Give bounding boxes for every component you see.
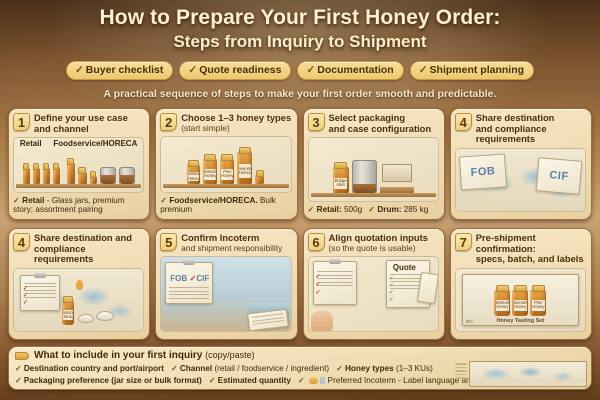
jar-label: Blossom Honey — [496, 300, 509, 311]
steel-drum-icon — [352, 160, 377, 194]
step-card-6[interactable]: 6 Align quotation inputs (so the quote i… — [303, 228, 445, 340]
card-header: 1 Define your use case and channel — [13, 113, 144, 134]
checklist-item[interactable]: ✓Channel (retail / foodservice / ingredi… — [171, 363, 329, 373]
inquiry-checklist-panel: What to include in your first inquiry (c… — [8, 346, 592, 390]
step-card-4-top[interactable]: 4 Share destination and compliance requi… — [450, 108, 592, 220]
card-footer: ✓ Retail - Glass jars, premium story; as… — [13, 196, 144, 215]
check-icon: ✓ — [389, 275, 394, 282]
card-title-second-line: specs, batch, and labels — [476, 254, 586, 265]
check-icon: ✓ — [160, 196, 167, 205]
card-subtitle: (start simple) — [181, 124, 291, 134]
check-icon: ✓ — [389, 289, 394, 296]
honey-jar-icon: Blossom Honey — [494, 290, 510, 316]
card-header: 6 Align quotation inputs (so the quote i… — [308, 233, 439, 253]
card-header: 4 Share destination and compliance requi… — [13, 233, 144, 265]
check-icon: ✓ — [316, 273, 321, 280]
jar-label: Blossom Honey — [63, 310, 73, 320]
document-icon — [320, 377, 325, 384]
check-icon: ✓ — [15, 364, 22, 373]
shelf-line — [163, 184, 288, 188]
illustration-destination-map: ✓ ✓ ✓ Blossom Honey — [13, 268, 144, 332]
card-header: 5 Confirm Incoterm and shipment responsi… — [160, 233, 291, 253]
check-icon: ✓ — [209, 376, 216, 385]
honey-jar-icon: Lavender Honey — [512, 290, 528, 316]
document-label: CIF — [549, 169, 569, 183]
footer-strong: Foodservice/HORECA. — [169, 196, 257, 205]
tag-icon — [15, 352, 29, 360]
panel-title-note: (copy/paste) — [205, 350, 255, 360]
card-subtitle: and shipment responsibility — [181, 244, 291, 254]
shelf-line — [16, 184, 141, 188]
step-card-7[interactable]: 7 Pre-shipment confirmation: specs, batc… — [450, 228, 592, 340]
document-cif: CIF — [536, 157, 583, 195]
pill-label: Shipment planning — [430, 64, 525, 76]
honey-jar-icon: Blossom Honey — [203, 159, 217, 185]
check-icon: ✓ — [23, 285, 28, 292]
header-pill-list: ✓Buyer checklist ✓Quote readiness ✓Docum… — [0, 61, 600, 80]
check-icon: ✓ — [316, 281, 321, 288]
jar-group — [14, 163, 143, 185]
checklist-label: Packaging preference (jar size or bulk f… — [24, 376, 202, 385]
illustration-retail-vs-horeca: Retail Foodservice/HORECA — [13, 137, 144, 193]
footer-strong: Retail: — [317, 205, 342, 214]
step-number-badge: 4 — [13, 233, 30, 251]
clip-icon — [34, 273, 46, 278]
pill-documentation[interactable]: ✓Documentation — [297, 61, 403, 80]
step-number-badge: 3 — [308, 113, 325, 131]
jar-group: Blossom Honey Lavender Honey Pine Honey — [463, 290, 578, 316]
check-icon: ✓ — [171, 364, 178, 373]
pill-label: Buyer checklist — [86, 64, 164, 76]
jar-label: Bringe Aber — [334, 178, 347, 189]
illustration-incoterm-documents: FOB CIF — [455, 148, 586, 212]
pallet-icon — [380, 164, 414, 194]
document-label: FOB — [470, 165, 496, 179]
gift-box-graphic: Blossom Honey Lavender Honey Pine Honey … — [462, 274, 579, 326]
checklist-label: Preferred Incoterm — [328, 376, 396, 385]
card-header: 7 Pre-shipment confirmation: specs, batc… — [455, 233, 586, 265]
pill-label: Documentation — [317, 64, 393, 76]
pill-buyer-checklist[interactable]: ✓Buyer checklist — [66, 61, 173, 80]
document-stack: FOB CIF — [460, 153, 581, 207]
jar-group: Blossom Honey Blossom Honey Pine Honey L… — [161, 152, 290, 185]
input-checklist-document: ✓ ✓ ✓ — [313, 261, 357, 305]
card-subtitle: (so the quote is usable) — [329, 244, 439, 254]
honey-jar-icon — [53, 168, 60, 185]
footer-text: 500g — [344, 205, 362, 214]
card-header: 4 Share destination and compliance requi… — [455, 113, 586, 145]
honey-jar-icon — [23, 168, 30, 185]
step-number-badge: 6 — [308, 233, 325, 251]
panel-title: What to include in your first inquiry — [34, 350, 202, 361]
jar-label: Blossom Honey — [188, 172, 199, 180]
check-icon: ✓ — [298, 376, 305, 385]
clip-icon — [329, 259, 341, 264]
hand-icon — [311, 311, 333, 331]
quote-sheet-title: Quote — [393, 263, 416, 272]
steps-grid-row1: 1 Define your use case and channel Retai… — [0, 108, 600, 220]
honey-jar-icon: Pine Honey — [530, 290, 546, 316]
pill-label: Quote readiness — [199, 64, 281, 76]
pill-quote-readiness[interactable]: ✓Quote readiness — [179, 61, 291, 80]
honey-jar-icon: Blossom Honey — [62, 301, 74, 325]
illustration-packaging: Bringe Aber — [308, 137, 439, 202]
supporting-document — [417, 272, 439, 304]
honey-jar-icon — [43, 168, 50, 185]
step-card-5[interactable]: 5 Confirm Incoterm and shipment responsi… — [155, 228, 297, 340]
checklist-label: Destination country and port/airport — [24, 364, 164, 373]
card-header: 3 Select packaging and case configuratio… — [308, 113, 439, 134]
checklist-item[interactable]: ✓Packaging preference (jar size or bulk … — [15, 375, 202, 385]
step-card-2[interactable]: 2 Choose 1–3 honey types (start simple) … — [155, 108, 297, 220]
shelf-line — [311, 193, 436, 197]
illustration-honey-types: Blossom Honey Blossom Honey Pine Honey L… — [160, 136, 291, 192]
honey-bowl-icon — [96, 311, 114, 321]
check-icon: ✓ — [389, 282, 394, 289]
footer-strong: Retail — [22, 196, 44, 205]
bulk-container-icon — [119, 167, 135, 185]
box-caption: Honey Tasting Set — [463, 318, 578, 324]
clip-icon — [183, 260, 195, 265]
pill-shipment-planning[interactable]: ✓Shipment planning — [410, 61, 534, 80]
honey-bowl-icon — [78, 314, 94, 323]
page-title-line1: How to Prepare Your First Honey Order: — [0, 6, 600, 29]
jar-label: Blossom Honey — [204, 169, 216, 180]
honey-pot-icon — [309, 377, 318, 384]
page-subtitle: A practical sequence of steps to make yo… — [0, 88, 600, 100]
check-icon: ✓ — [15, 376, 22, 385]
check-icon: ✓ — [316, 289, 321, 296]
document-label-cif: CIF — [196, 274, 209, 283]
honey-jar-icon — [78, 172, 87, 185]
illustration-label-foodservice: Foodservice/HORECA — [53, 139, 137, 148]
card-title-second-line: and channel — [34, 124, 144, 135]
card-title: Pre-shipment confirmation: — [476, 233, 586, 254]
card-footer: ✓ Foodservice/HORECA. Bulk premium — [160, 196, 291, 215]
card-title-second-line: compliance requirements — [34, 244, 144, 265]
check-icon: ✓ — [190, 274, 197, 283]
retail-jar-icon: Bringe Aber — [333, 167, 349, 194]
world-map-graphic — [469, 361, 587, 387]
step-card-4[interactable]: 4 Share destination and compliance requi… — [8, 228, 150, 340]
footer-text: 285 kg — [404, 205, 429, 214]
check-icon: ✓ — [23, 299, 28, 306]
checklist-label: Estimated quantity — [218, 376, 291, 385]
check-icon: ✓ — [13, 196, 20, 205]
step-number-badge: 1 — [13, 113, 30, 131]
jar-label: Lavender Honey — [239, 164, 252, 178]
packaging-group: Bringe Aber — [309, 160, 438, 194]
document-label-fob: FOB — [170, 274, 187, 283]
card-header: 2 Choose 1–3 honey types (start simple) — [160, 113, 291, 133]
step-number-badge: 2 — [160, 113, 177, 131]
step-number-badge: 5 — [160, 233, 177, 251]
bulk-container-icon — [100, 167, 116, 185]
steps-grid-row2: 4 Share destination and compliance requi… — [0, 228, 600, 340]
illustration-quotation-inputs: ✓ ✓ ✓ Quote ✓ ✓ ✓ ✓ — [308, 256, 439, 332]
step-number-badge: 4 — [455, 113, 472, 131]
jar-label: Pine Honey — [532, 300, 545, 311]
checklist-note: (retail / foodservice / ingredient) — [214, 364, 329, 373]
honey-jar-icon: Lavender Honey — [237, 152, 252, 185]
illustration-label-retail: Retail — [20, 139, 42, 148]
check-icon: ✓ — [336, 364, 343, 373]
card-title-second-line: and compliance requirements — [476, 124, 586, 145]
illustration-tasting-set: Blossom Honey Lavender Honey Pine Honey … — [455, 268, 586, 332]
incoterm-clipboard-document: FOB CIF ✓ — [165, 262, 213, 304]
checklist-label: Honey types — [345, 364, 394, 373]
check-icon: ✓ — [306, 64, 315, 76]
compliance-checklist-document: ✓ ✓ ✓ — [20, 275, 60, 311]
checklist-item[interactable]: ✓Destination country and port/airport — [15, 363, 164, 373]
decorative-bars — [455, 363, 467, 381]
illustration-incoterm-clipboard: FOB CIF ✓ — [160, 256, 291, 332]
check-icon: ✓ — [308, 205, 315, 214]
check-icon: ✓ — [368, 205, 375, 214]
checklist-note: (1–3 KUs) — [396, 364, 433, 373]
header: How to Prepare Your First Honey Order: S… — [0, 0, 600, 100]
jar-label: Pine Honey — [221, 169, 233, 180]
footer-strong: Drum: — [377, 205, 401, 214]
check-icon: ✓ — [75, 64, 84, 76]
card-footer: ✓ Retail: 500g ✓ Drum: 285 kg — [308, 205, 439, 215]
check-icon: ✓ — [23, 292, 28, 299]
page-title-line2: Steps from Inquiry to Shipment — [0, 32, 600, 52]
check-icon: ✓ — [419, 64, 428, 76]
jar-label: Lavender Honey — [514, 300, 527, 311]
panel-header: What to include in your first inquiry (c… — [15, 350, 585, 361]
honey-jar-icon: Blossom Honey — [187, 165, 200, 185]
checklist-item[interactable]: ✓Honey types (1–3 KUs) — [336, 363, 433, 373]
honey-bottle-icon — [67, 163, 75, 185]
check-icon: ✓ — [389, 296, 394, 303]
honey-jar-icon — [33, 168, 40, 185]
document-fob: FOB — [459, 153, 507, 190]
step-number-badge: 7 — [455, 233, 472, 251]
honey-jar-icon: Pine Honey — [220, 159, 234, 185]
checklist-label: Channel — [180, 364, 212, 373]
checklist-item[interactable]: ✓Estimated quantity — [209, 375, 291, 385]
step-card-3[interactable]: 3 Select packaging and case configuratio… — [303, 108, 445, 220]
step-card-1[interactable]: 1 Define your use case and channel Retai… — [8, 108, 150, 220]
map-pin-icon — [76, 280, 83, 289]
card-title-second-line: and case configuration — [329, 124, 439, 135]
check-icon: ✓ — [188, 64, 197, 76]
